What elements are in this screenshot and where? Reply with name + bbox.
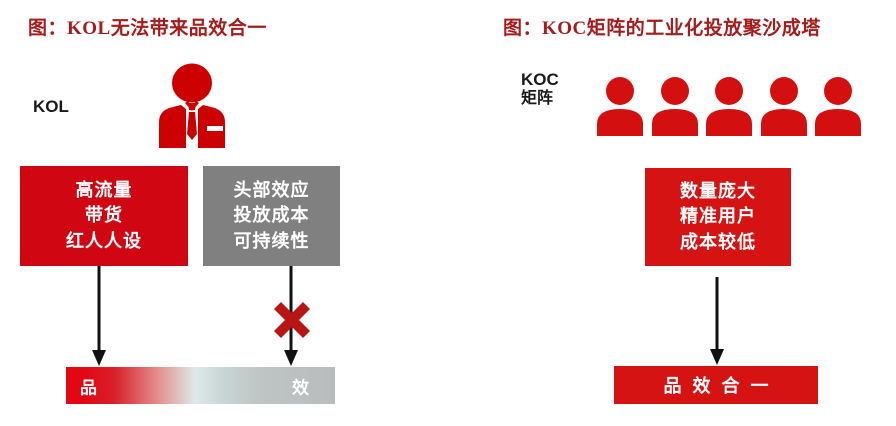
red-x-icon [272,300,312,340]
person-icon [814,76,862,136]
kol-cons-line-3: 可持续性 [234,229,310,255]
koc-benefits-box: 数量庞大 精准用户 成本较低 [645,168,791,266]
kol-cons-line-2: 投放成本 [234,203,310,229]
person-icon [705,76,753,136]
koc-outcome-bar: 品效合一 [614,366,818,404]
koc-benefits-line-1: 数量庞大 [680,179,756,205]
koc-label-line-1: KOC [521,70,559,89]
figure-canvas: 图：KOL无法带来品效合一 KOL 高流量 带货 红人人设 头部效应 投放成本 … [0,0,896,426]
left-panel-title: 图：KOL无法带来品效合一 [28,13,267,40]
brand-effect-gradient-bar: 品 效 [66,367,335,404]
kol-cons-box: 头部效应 投放成本 可持续性 [203,166,340,266]
kol-pros-line-3: 红人人设 [66,229,142,255]
person-icon [651,76,699,136]
kol-cons-line-1: 头部效应 [234,178,310,204]
gradient-bar-right-char: 效 [292,373,309,398]
kol-label: KOL [33,97,69,117]
koc-label-line-2: 矩阵 [521,90,559,109]
down-arrow-icon-left [88,266,110,368]
kol-pros-line-1: 高流量 [76,178,133,204]
gradient-bar-left-char: 品 [80,373,97,398]
koc-benefits-line-3: 成本较低 [680,230,756,256]
koc-label: KOC 矩阵 [521,70,559,109]
kol-pros-box: 高流量 带货 红人人设 [20,166,188,266]
person-icon [760,76,808,136]
right-panel-title: 图：KOC矩阵的工业化投放聚沙成塔 [503,13,821,40]
down-arrow-icon-right [706,277,728,367]
businessman-icon [155,62,229,148]
person-icon [596,76,644,136]
koc-benefits-line-2: 精准用户 [680,204,756,230]
person-group-icon [596,74,862,136]
kol-pros-line-2: 带货 [85,203,123,229]
